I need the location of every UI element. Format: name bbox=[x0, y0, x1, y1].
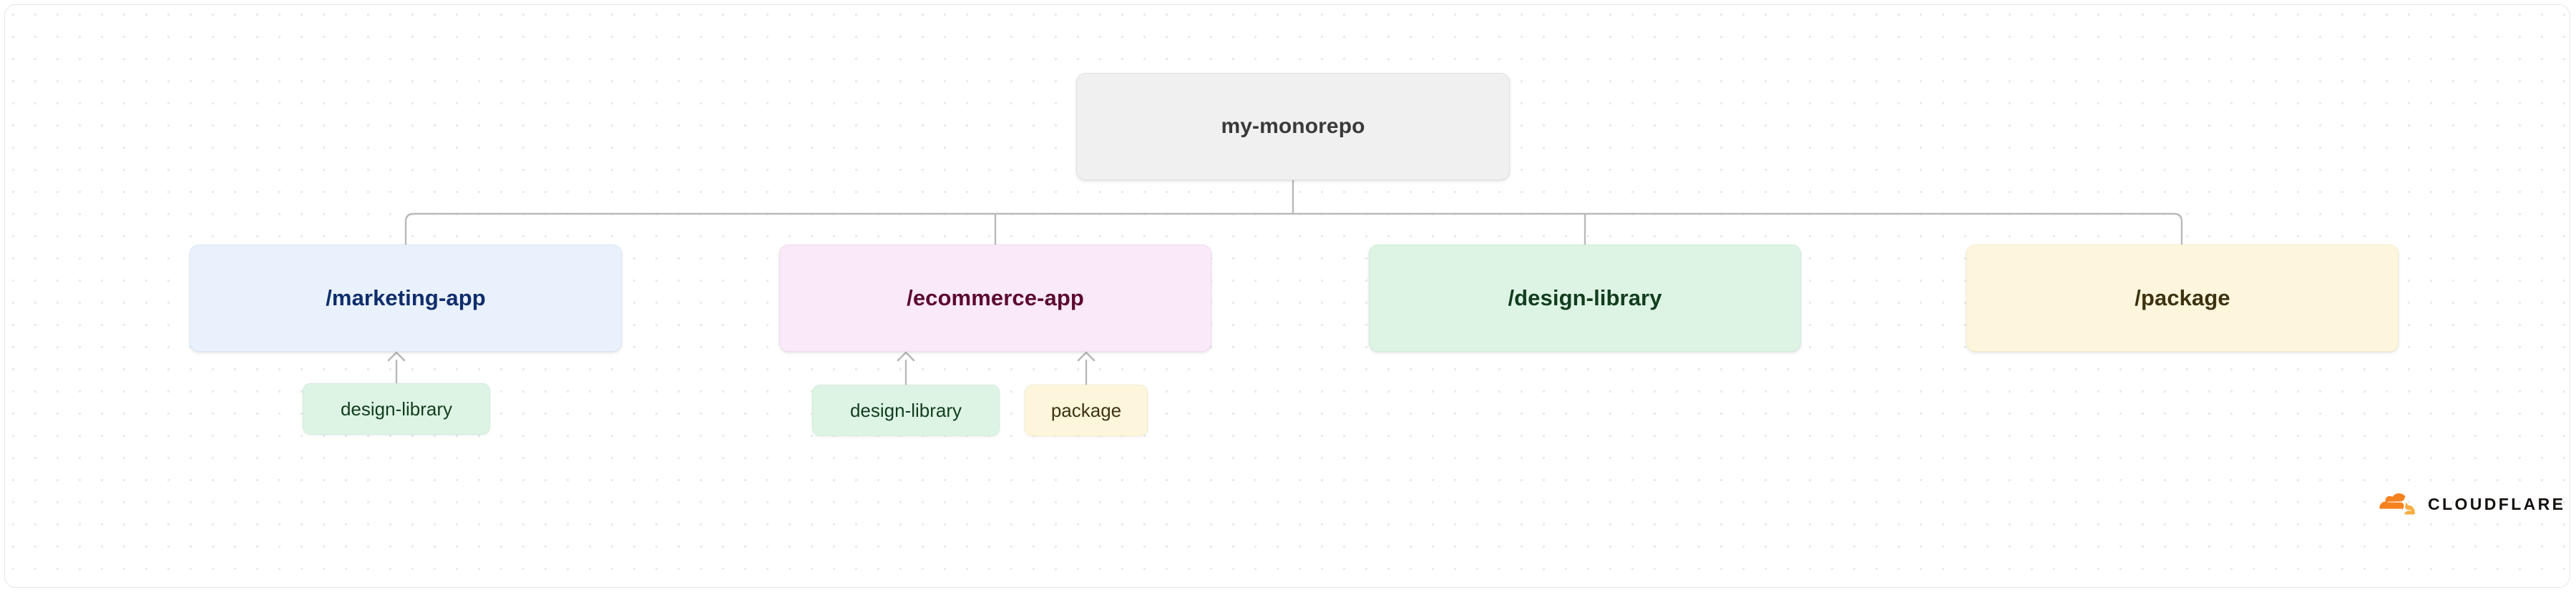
node-label: /package bbox=[2135, 285, 2230, 311]
monorepo-dependency-diagram: my-monorepo /marketing-app /ecommerce-ap… bbox=[5, 5, 2570, 588]
dependency-chip-label: package bbox=[1051, 400, 1121, 422]
node-label: /marketing-app bbox=[326, 285, 486, 311]
cloudflare-wordmark: CLOUDFLARE bbox=[2428, 495, 2565, 514]
dependency-chip-label: design-library bbox=[850, 400, 962, 422]
node-label: /design-library bbox=[1508, 285, 1662, 311]
node-ecommerce-app[interactable]: /ecommerce-app bbox=[779, 245, 1211, 352]
node-package[interactable]: /package bbox=[1966, 245, 2399, 352]
diagram-canvas: my-monorepo /marketing-app /ecommerce-ap… bbox=[4, 4, 2570, 588]
cloudflare-cloud-icon bbox=[2373, 493, 2418, 515]
cloudflare-logo: CLOUDFLARE bbox=[2373, 493, 2565, 515]
node-marketing-app[interactable]: /marketing-app bbox=[190, 245, 622, 352]
dependency-chip-package-ecommerce[interactable]: package bbox=[1025, 385, 1148, 436]
node-label: /ecommerce-app bbox=[907, 285, 1084, 311]
node-my-monorepo[interactable]: my-monorepo bbox=[1076, 73, 1510, 180]
dependency-chip-design-library-marketing[interactable]: design-library bbox=[303, 383, 490, 435]
dependency-chip-label: design-library bbox=[341, 398, 452, 420]
dependency-chip-design-library-ecommerce[interactable]: design-library bbox=[812, 385, 1000, 436]
node-design-library[interactable]: /design-library bbox=[1369, 245, 1801, 352]
node-label: my-monorepo bbox=[1221, 114, 1365, 139]
